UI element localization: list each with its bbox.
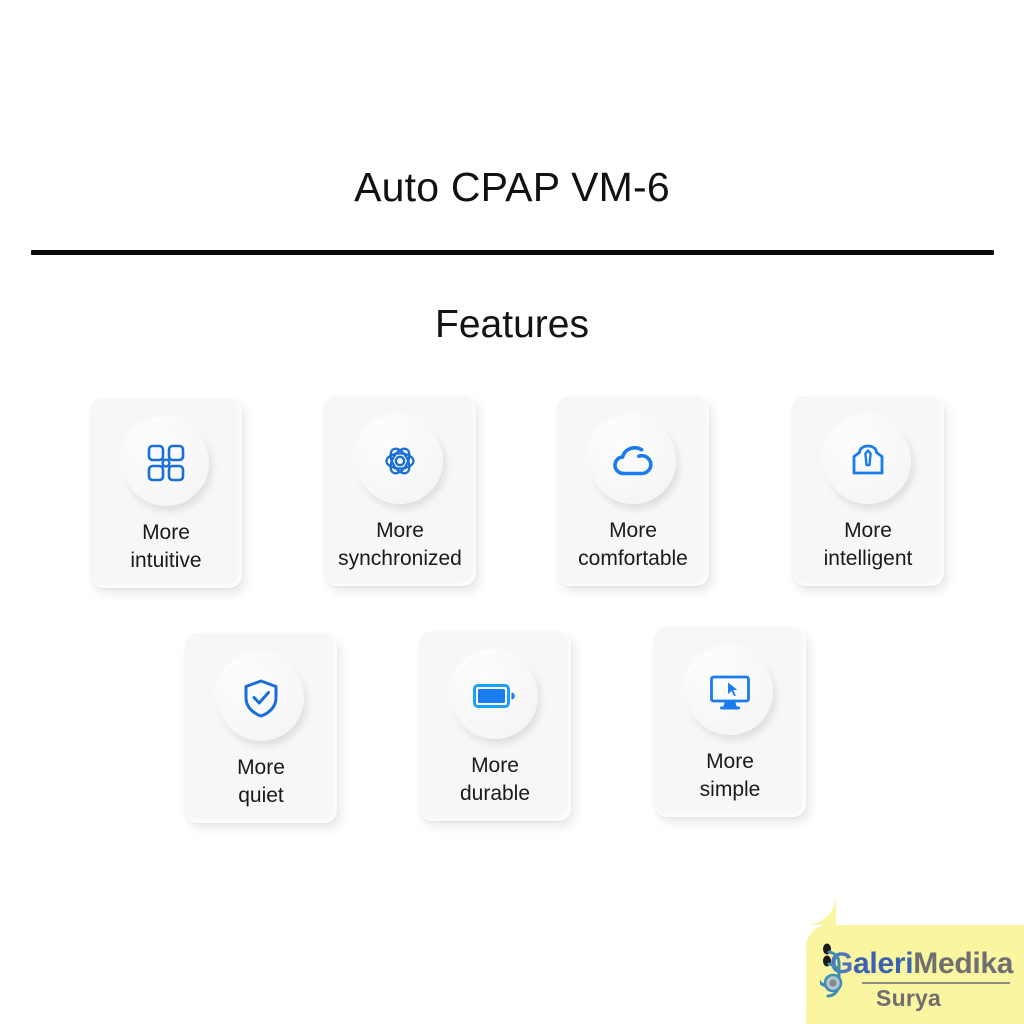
feature-card-more-durable[interactable]: More durable [419,631,571,821]
page-title: Auto CPAP VM-6 [0,163,1024,212]
feature-card-more-comfortable[interactable]: More comfortable [557,396,709,586]
watermark-badge: GaleriMedika Surya [806,925,1024,1024]
feature-card-label: More durable [457,752,533,808]
watermark-rule [862,982,1010,984]
feature-card-more-quiet[interactable]: More quiet [185,633,337,823]
stethoscope-icon [820,941,868,1013]
feature-card-more-intuitive[interactable]: More intuitive [90,398,242,588]
shield-check-icon [218,655,304,741]
feature-card-label: More intelligent [821,517,916,573]
title-divider [31,250,994,255]
feature-card-label: More quiet [234,754,288,810]
feature-card-label: More simple [697,748,764,804]
product-feature-slide: Auto CPAP VM-6 Features More intuitive [0,0,1024,1024]
features-heading: Features [0,303,1024,347]
monitor-cursor-icon [687,649,773,735]
feature-card-more-intelligent[interactable]: More intelligent [792,396,944,586]
battery-full-icon [452,653,538,739]
feature-card-more-synchronized[interactable]: More synchronized [324,396,476,586]
atom-orbit-icon [357,418,443,504]
feature-card-label: More synchronized [335,517,465,573]
feature-card-label: More intuitive [127,519,204,575]
cloud-icon [590,418,676,504]
watermark-brand-part2: Medika [913,947,1013,980]
feature-card-label: More comfortable [575,517,691,573]
shirt-tie-icon [825,418,911,504]
feature-card-more-simple[interactable]: More simple [654,627,806,817]
grid-four-squares-icon [123,420,209,506]
